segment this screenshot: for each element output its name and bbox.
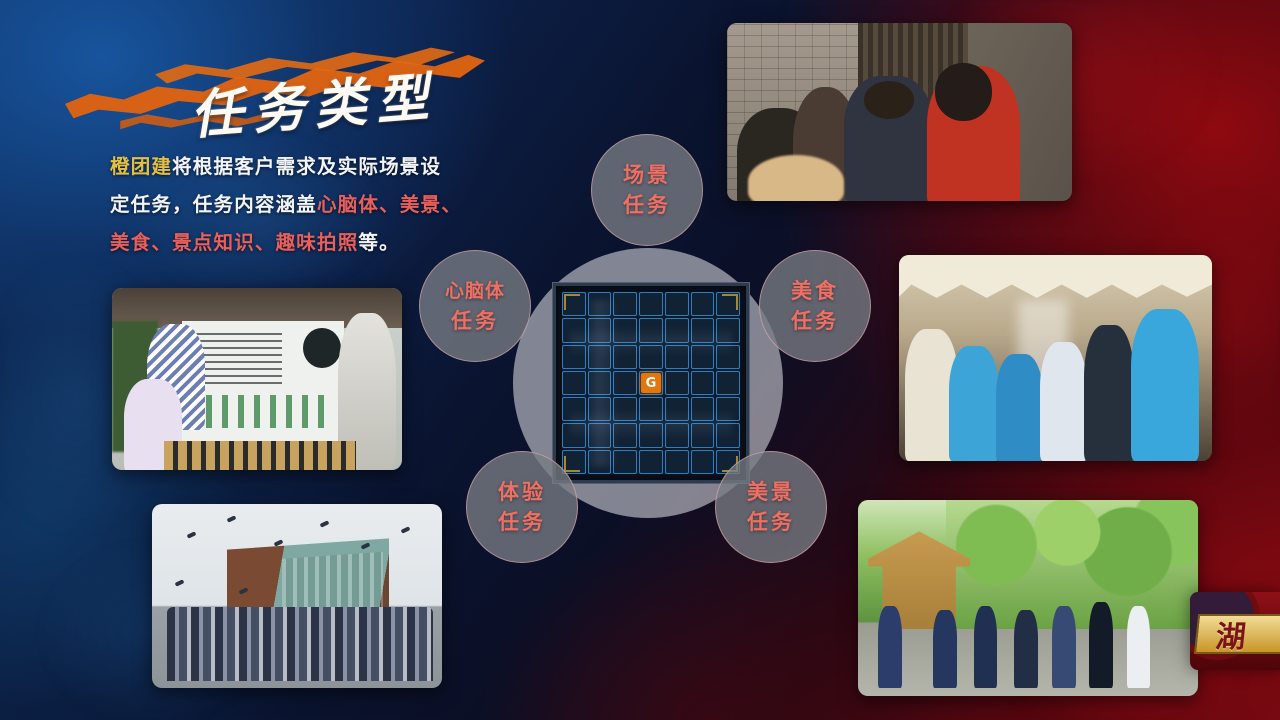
board-cell[interactable] xyxy=(639,345,663,369)
node-label-line1: 体验 xyxy=(498,477,546,507)
photo-food-stall xyxy=(899,255,1212,461)
board-cell[interactable] xyxy=(716,318,740,342)
node-label-line1: 心脑体 xyxy=(445,276,505,306)
board-cell[interactable] xyxy=(691,397,715,421)
board-corner-top-left-icon xyxy=(564,294,580,310)
board-cell[interactable] xyxy=(665,318,689,342)
badge-plate: 湖 xyxy=(1194,614,1280,654)
title-block: 任务类型 xyxy=(60,24,530,144)
badge-label: 湖 xyxy=(1214,612,1249,656)
board-cell[interactable] xyxy=(613,345,637,369)
board-cell[interactable] xyxy=(665,371,689,395)
intro-line3-plain: 等。 xyxy=(358,231,399,254)
board-cell[interactable] xyxy=(691,292,715,316)
board-cell[interactable] xyxy=(639,318,663,342)
flying-object xyxy=(186,532,196,539)
node-label-line1: 场景 xyxy=(623,160,671,190)
board-cell[interactable] xyxy=(716,423,740,447)
flying-object xyxy=(227,515,237,522)
person xyxy=(1089,602,1113,688)
board-cell[interactable] xyxy=(691,318,715,342)
person xyxy=(1040,342,1087,461)
board-cell[interactable] xyxy=(639,423,663,447)
board-corner-top-right-icon xyxy=(722,294,738,310)
game-board[interactable]: G xyxy=(553,283,749,483)
photo-content xyxy=(899,255,1212,461)
board-cell[interactable] xyxy=(588,423,612,447)
photo-building-group xyxy=(152,504,442,688)
board-cell[interactable] xyxy=(588,371,612,395)
person xyxy=(949,346,999,461)
board-corner-bottom-left-icon xyxy=(564,456,580,472)
board-cell[interactable] xyxy=(665,345,689,369)
board-cell[interactable] xyxy=(613,371,637,395)
page-title: 任务类型 xyxy=(187,54,440,148)
board-cell[interactable] xyxy=(562,345,586,369)
intro-line2-plain: 定任务，任务内容涵盖 xyxy=(110,193,317,216)
photo-content xyxy=(727,23,1072,201)
board-cell[interactable] xyxy=(665,397,689,421)
diagram-node-food[interactable]: 美食 任务 xyxy=(759,250,871,362)
board-cell[interactable] xyxy=(665,423,689,447)
board-cell[interactable] xyxy=(588,292,612,316)
person xyxy=(1052,606,1076,688)
board-cell[interactable] xyxy=(588,450,612,474)
board-cell[interactable] xyxy=(562,371,586,395)
board-cell[interactable] xyxy=(613,292,637,316)
people-group xyxy=(167,607,434,681)
board-cell[interactable] xyxy=(639,397,663,421)
board-cell[interactable] xyxy=(588,318,612,342)
node-label-line1: 美食 xyxy=(791,276,839,306)
board-cell[interactable] xyxy=(639,292,663,316)
board-cell[interactable] xyxy=(716,371,740,395)
board-cell[interactable] xyxy=(613,450,637,474)
person xyxy=(1127,606,1151,688)
photo-park-activity xyxy=(858,500,1198,696)
corner-badge: 湖 xyxy=(1190,592,1280,670)
person xyxy=(996,354,1043,461)
node-label-line2: 任务 xyxy=(451,306,499,336)
diagram-node-experience[interactable]: 体验 任务 xyxy=(466,451,578,563)
intro-line3-highlight: 美食、景点知识、趣味拍照 xyxy=(110,231,358,254)
person xyxy=(1084,325,1134,461)
diagram-node-mind-body[interactable]: 心脑体 任务 xyxy=(419,250,531,362)
board-cell[interactable] xyxy=(691,345,715,369)
board-cell[interactable] xyxy=(588,397,612,421)
plant-pots-row xyxy=(164,441,355,470)
person xyxy=(1014,610,1038,688)
board-cell[interactable] xyxy=(691,423,715,447)
board-cell[interactable] xyxy=(716,345,740,369)
node-label-line2: 任务 xyxy=(747,507,795,537)
photo-content xyxy=(152,504,442,688)
node-label-line2: 任务 xyxy=(791,306,839,336)
person xyxy=(974,606,998,688)
board-cell[interactable] xyxy=(562,423,586,447)
board-token-g[interactable]: G xyxy=(641,373,661,393)
game-board-grid: G xyxy=(562,292,740,474)
board-cell[interactable] xyxy=(691,371,715,395)
person xyxy=(878,606,902,688)
board-cell[interactable] xyxy=(562,318,586,342)
seal-logo-icon xyxy=(303,328,341,368)
board-cell[interactable] xyxy=(716,397,740,421)
diagram-node-scenery[interactable]: 美景 任务 xyxy=(715,451,827,563)
flying-object xyxy=(320,521,330,528)
board-cell[interactable] xyxy=(639,450,663,474)
photo-content xyxy=(858,500,1198,696)
board-cell[interactable] xyxy=(613,423,637,447)
intro-line1: 将根据客户需求及实际场景设 xyxy=(172,155,441,178)
person xyxy=(844,76,934,201)
board-cell[interactable] xyxy=(665,450,689,474)
board-cell[interactable] xyxy=(691,450,715,474)
board-cell[interactable] xyxy=(562,397,586,421)
board-cell[interactable] xyxy=(613,397,637,421)
flying-object xyxy=(175,580,185,587)
brand-name: 橙团建 xyxy=(110,155,172,178)
board-cell[interactable] xyxy=(588,345,612,369)
person xyxy=(927,66,1020,201)
photo-herbal-wall xyxy=(112,288,402,470)
node-label-line2: 任务 xyxy=(498,507,546,537)
board-cell[interactable] xyxy=(613,318,637,342)
diagram-node-scene[interactable]: 场景 任务 xyxy=(591,134,703,246)
node-label-line1: 美景 xyxy=(747,477,795,507)
slide-canvas: 任务类型 橙团建将根据客户需求及实际场景设 定任务，任务内容涵盖心脑体、美景、 … xyxy=(0,0,1280,720)
photo-content xyxy=(112,288,402,470)
flying-object xyxy=(401,526,411,533)
board-cell[interactable] xyxy=(665,292,689,316)
person xyxy=(933,610,957,688)
photo-alley-team xyxy=(727,23,1072,201)
node-label-line2: 任务 xyxy=(623,190,671,220)
person xyxy=(1131,309,1200,461)
